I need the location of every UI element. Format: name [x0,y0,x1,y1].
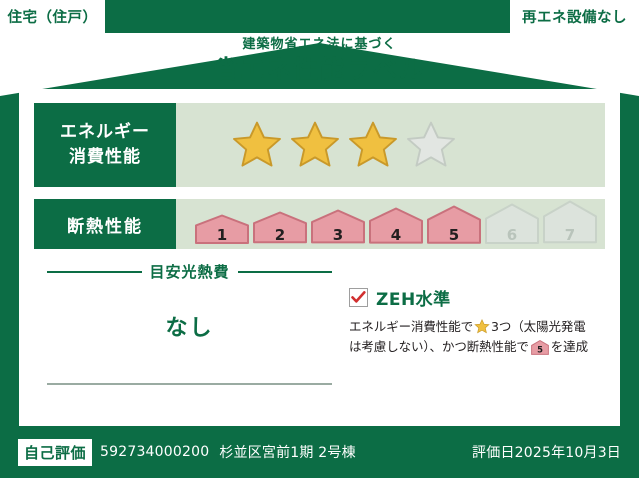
zeh-desc-part1: エネルギー消費性能で [349,319,473,334]
star-filled-icon [289,120,341,170]
property-address: 杉並区宮前1期 2号棟 [219,442,355,462]
renewable-equipment-badge: 再エネ設備なし [510,0,639,33]
utility-cost-block: 目安光熱費 なし [47,261,332,342]
zeh-block: ZEH水準 エネルギー消費性能で3つ（太陽光発電は考慮しない）、かつ断熱性能で5… [349,285,607,362]
house-icon [484,203,540,244]
insulation-step-5: 5 [426,205,482,248]
star-empty-icon [405,120,457,170]
house-icon [368,207,424,244]
check-icon [351,291,366,304]
footer-bar: 自己評価 592734000200 杉並区宮前1期 2号棟 評価日2025年10… [0,426,639,478]
utility-cost-divider [47,383,332,385]
zeh-description: エネルギー消費性能で3つ（太陽光発電は考慮しない）、かつ断熱性能で5を達成 [349,317,607,362]
insulation-performance-body: 1234567 [176,199,605,249]
insulation-step-1: 1 [194,214,250,248]
house-icon [310,209,366,243]
insulation-step-3: 3 [310,209,366,247]
label-id: 592734000200 [100,444,209,460]
zeh-title: ZEH水準 [376,285,451,310]
evaluation-date: 評価日2025年10月3日 [472,442,621,462]
inline-star-icon [474,319,490,334]
star-filled-icon [347,120,399,170]
building-type-badge: 住宅（住戸） [0,0,105,33]
zeh-desc-part2: 3つ（太陽光発電 [491,319,586,334]
insulation-rating-scale: 1234567 [194,200,598,247]
star-rating [231,120,457,170]
rule-right [238,271,333,273]
zeh-heading-row: ZEH水準 [349,285,607,310]
energy-performance-label: 住宅（住戸） 再エネ設備なし 建築物省エネ法に基づく 省エネ性能ラベル エネルギ… [0,0,639,478]
energy-tag-line2: 消費性能 [69,145,141,170]
energy-performance-tag: エネルギー 消費性能 [34,103,176,187]
zeh-checkbox[interactable] [349,288,368,307]
star-filled-icon [231,120,283,170]
utility-cost-heading: 目安光熱費 [150,261,230,282]
svg-text:5: 5 [537,345,543,355]
insulation-performance-tag: 断熱性能 [34,199,176,249]
label-card: エネルギー 消費性能 断熱性能 1234567 目安光熱費 なし [19,89,620,426]
utility-cost-heading-row: 目安光熱費 [47,261,332,282]
insulation-performance-row: 断熱性能 1234567 [34,199,605,249]
house-icon [426,205,482,244]
house-icon [252,211,308,243]
inline-house-5-icon: 5 [531,343,549,358]
page-title: 省エネ性能ラベル [0,54,639,85]
energy-performance-row: エネルギー 消費性能 [34,103,605,187]
zeh-desc-part3: は考慮しない）、かつ断熱性能で [349,339,529,354]
insulation-step-7: 7 [542,200,598,247]
energy-tag-line1: エネルギー [60,120,150,145]
zeh-desc-part4: を達成 [551,339,588,354]
energy-performance-body [176,103,605,187]
title-subtitle: 建築物省エネ法に基づく [0,38,639,52]
house-icon [194,214,250,244]
insulation-step-4: 4 [368,207,424,248]
rule-left [47,271,142,273]
house-icon [542,200,598,243]
title-block: 建築物省エネ法に基づく 省エネ性能ラベル [0,38,639,86]
insulation-step-6: 6 [484,203,540,248]
utility-cost-value: なし [47,310,332,342]
evaluation-type-badge: 自己評価 [18,439,92,466]
insulation-step-2: 2 [252,211,308,247]
